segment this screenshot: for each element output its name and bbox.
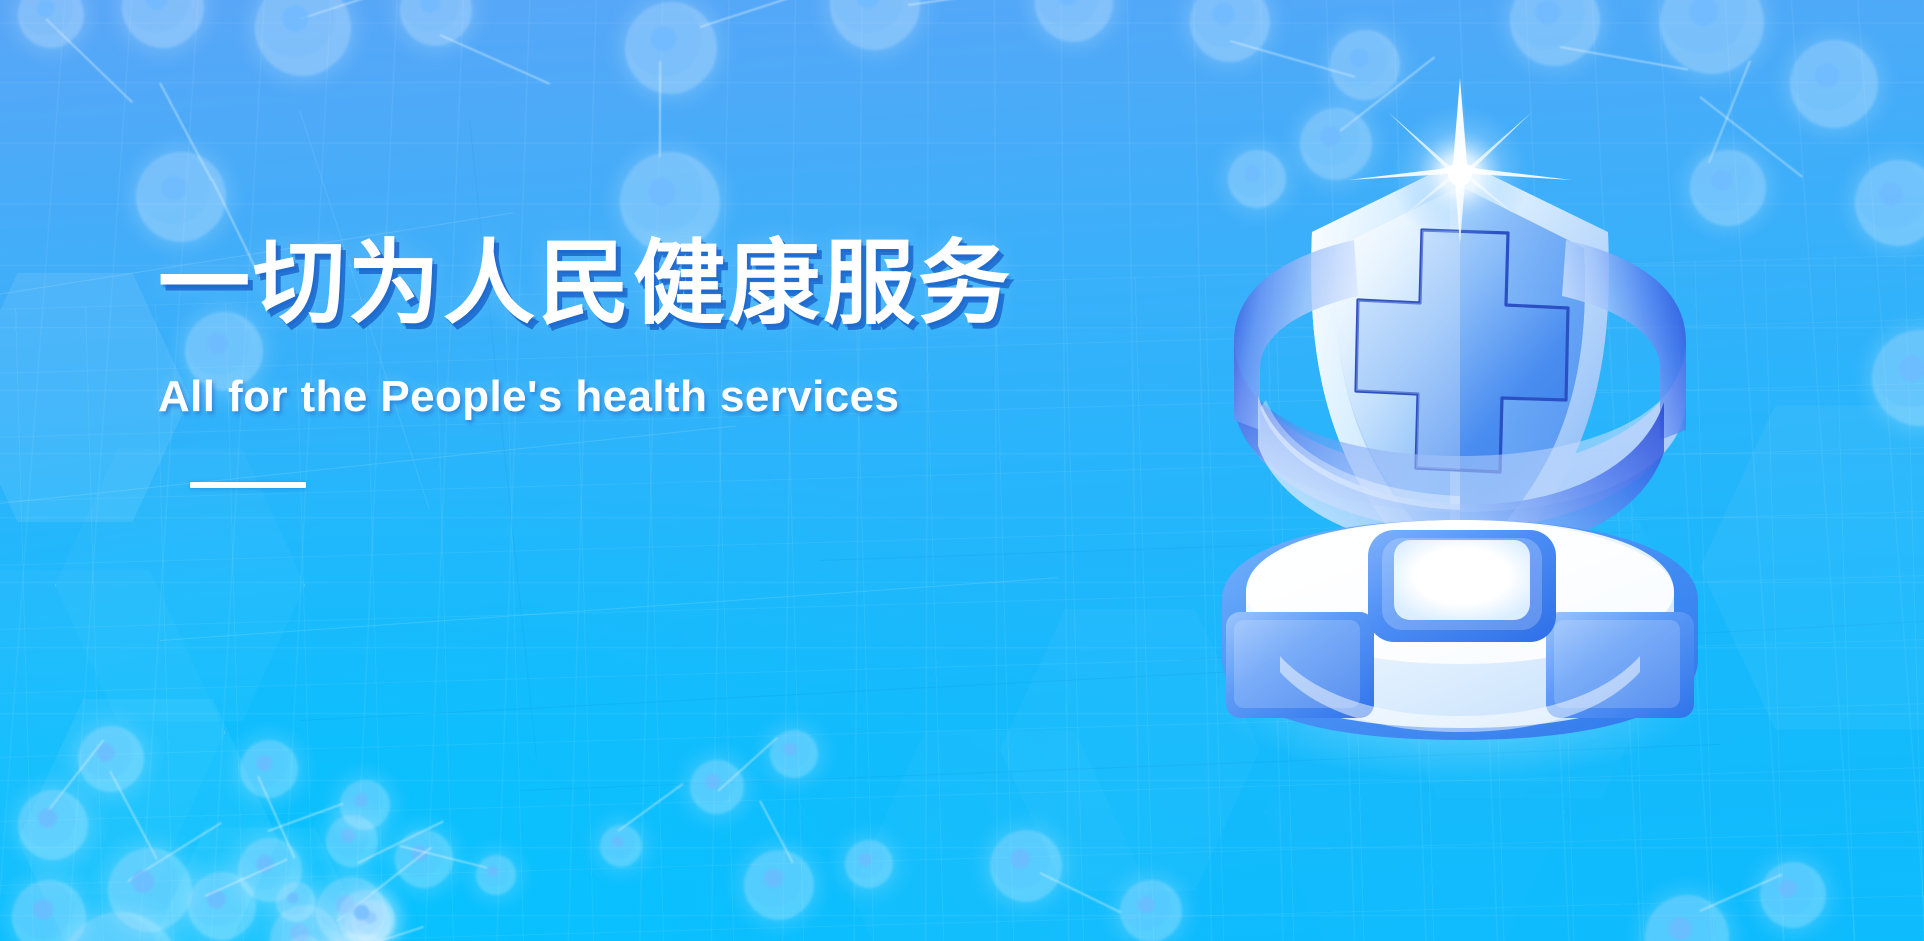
medical-shield-illustration xyxy=(1130,100,1790,800)
page-subtitle: All for the People's health services xyxy=(158,372,938,422)
page-title: 一切为人民健康服务 xyxy=(158,236,938,334)
hero-banner: 一切为人民健康服务 All for the People's health se… xyxy=(0,0,1924,941)
glass-pedestal xyxy=(1222,520,1698,740)
pedestal-glow-top xyxy=(1394,540,1530,620)
hero-text-block: 一切为人民健康服务 All for the People's health se… xyxy=(158,236,938,488)
title-divider xyxy=(190,482,306,488)
